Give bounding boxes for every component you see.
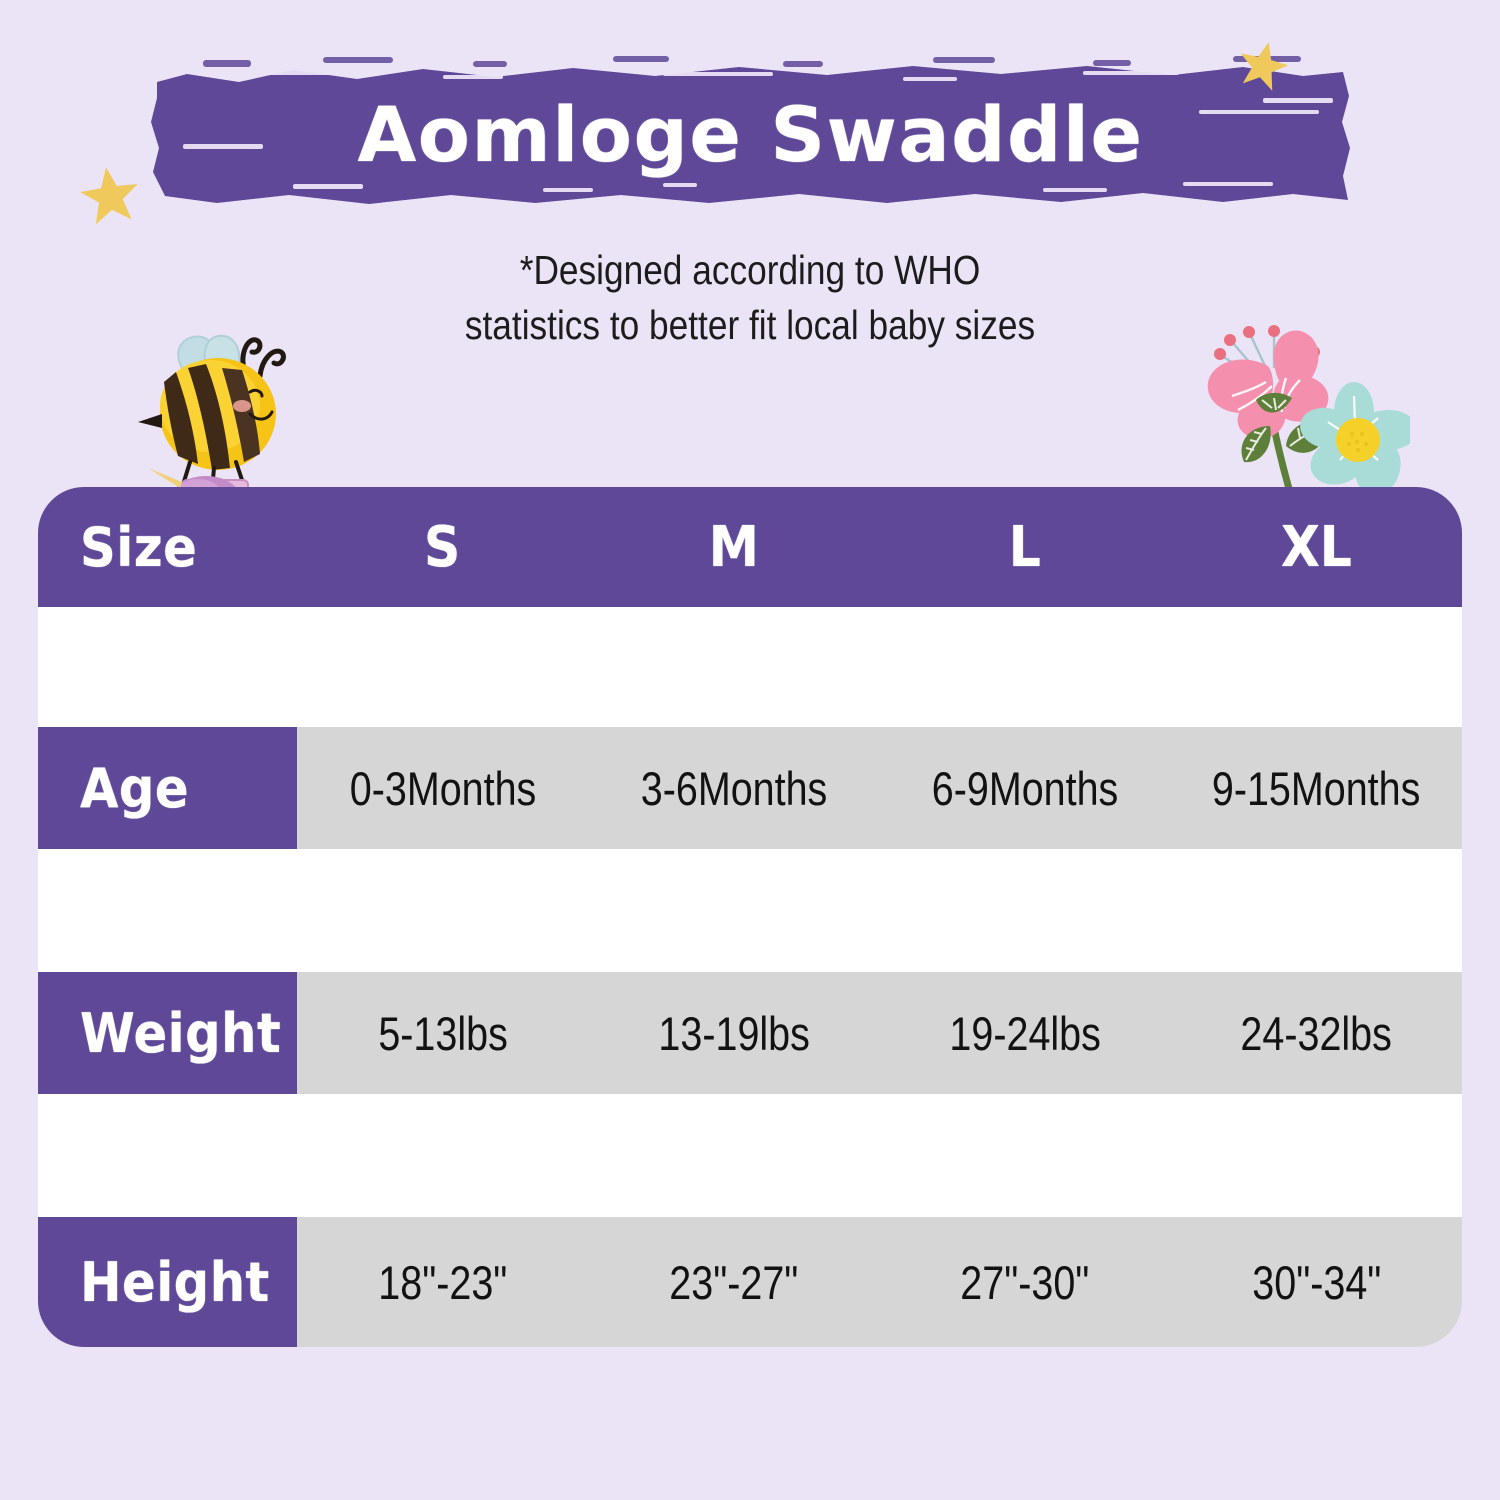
height-value-l: 27"-30"	[880, 1217, 1171, 1347]
table-spacer-1	[38, 607, 1462, 727]
row-values-age: 0-3Months 3-6Months 6-9Months 9-15Months	[297, 727, 1462, 849]
weight-value-s: 5-13lbs	[297, 972, 588, 1094]
weight-value-xl: 24-32lbs	[1171, 972, 1462, 1094]
flower-illustration	[1182, 320, 1410, 510]
header-size-xl: XL	[1171, 487, 1462, 607]
weight-value-l: 19-24lbs	[880, 972, 1171, 1094]
table-spacer-2	[38, 849, 1462, 972]
header-size-l: L	[880, 487, 1171, 607]
star-left-icon	[78, 163, 142, 227]
bee-illustration	[132, 322, 332, 512]
age-value-xl: 9-15Months	[1171, 727, 1462, 849]
page-title: Aomloge Swaddle	[143, 52, 1358, 217]
table-spacer-3	[38, 1094, 1462, 1217]
height-value-s: 18"-23"	[297, 1217, 588, 1347]
height-value-xl: 30"-34"	[1171, 1217, 1462, 1347]
header-size-m: M	[588, 487, 879, 607]
row-values-weight: 5-13lbs 13-19lbs 19-24lbs 24-32lbs	[297, 972, 1462, 1094]
row-label-age: Age	[38, 727, 297, 849]
subtitle-line-1: *Designed according to WHO	[105, 243, 1395, 298]
weight-value-m: 13-19lbs	[588, 972, 879, 1094]
size-chart-page: Aomloge Swaddle *Designed according to W…	[0, 0, 1500, 1500]
table-header-row: Size S M L XL	[38, 487, 1462, 607]
table-row-weight: Weight 5-13lbs 13-19lbs 19-24lbs 24-32lb…	[38, 972, 1462, 1094]
title-banner: Aomloge Swaddle	[143, 52, 1358, 217]
row-values-height: 18"-23" 23"-27" 27"-30" 30"-34"	[297, 1217, 1462, 1347]
age-value-l: 6-9Months	[880, 727, 1171, 849]
row-label-weight: Weight	[38, 972, 297, 1094]
mint-daisy-center	[1336, 418, 1380, 462]
star-top-icon	[1236, 38, 1290, 92]
age-value-m: 3-6Months	[588, 727, 879, 849]
row-label-height: Height	[38, 1217, 297, 1347]
header-size-cells: S M L XL	[297, 487, 1462, 607]
balloon-flame	[148, 468, 182, 488]
header-size-s: S	[297, 487, 588, 607]
bee-stinger	[138, 414, 162, 428]
table-row-height: Height 18"-23" 23"-27" 27"-30" 30"-34"	[38, 1217, 1462, 1347]
age-value-s: 0-3Months	[297, 727, 588, 849]
height-value-m: 23"-27"	[588, 1217, 879, 1347]
table-row-age: Age 0-3Months 3-6Months 6-9Months 9-15Mo…	[38, 727, 1462, 849]
header-label-size: Size	[38, 487, 297, 607]
size-chart-table: Size S M L XL Age	[38, 487, 1462, 1347]
